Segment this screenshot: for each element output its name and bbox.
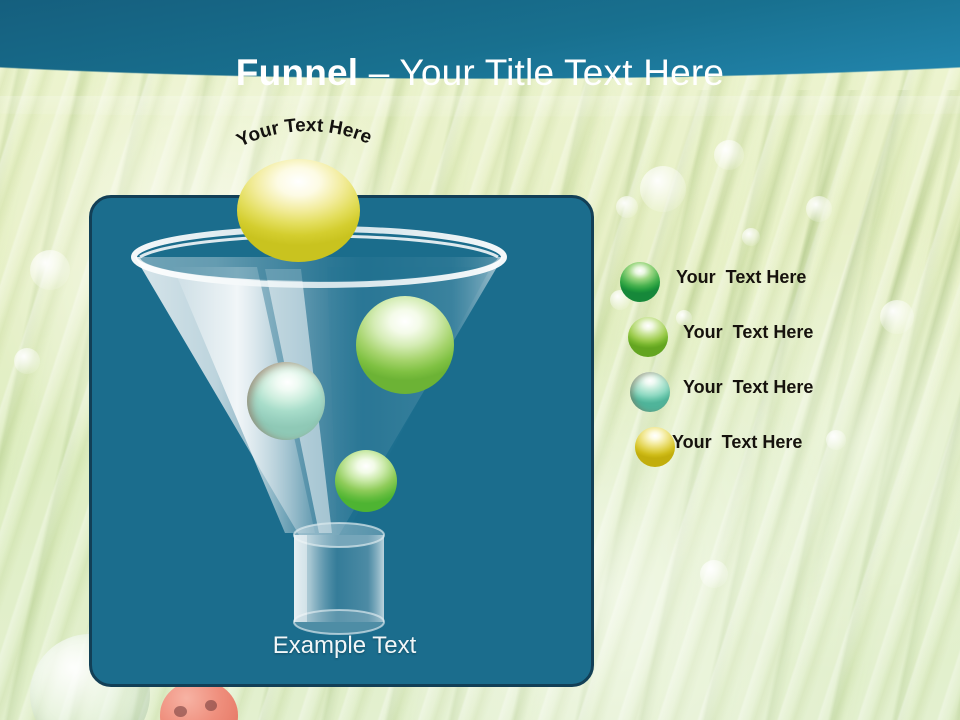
- bullet-sphere-icon: [628, 317, 668, 357]
- list-item[interactable]: Your Text Here: [620, 313, 920, 368]
- bullet-sphere-icon: [635, 427, 675, 467]
- yellow-sphere: [237, 159, 360, 262]
- list-item-label: Your Text Here: [672, 432, 802, 453]
- title-light-part: Your Title Text Here: [399, 52, 724, 93]
- list-item[interactable]: Your Text Here: [620, 258, 920, 313]
- title-dash: –: [358, 52, 399, 93]
- panel-caption: Example Text: [92, 632, 594, 660]
- list-item[interactable]: Your Text Here: [620, 423, 920, 478]
- green-large-sphere: [356, 296, 454, 394]
- list-item[interactable]: Your Text Here: [620, 368, 920, 423]
- slide-canvas: Funnel – Your Title Text Here Example Te…: [0, 0, 960, 720]
- list-item-label: Your Text Here: [676, 267, 806, 288]
- bullet-list: Your Text Here Your Text Here Your Text …: [620, 258, 920, 478]
- title-bold-part: Funnel: [236, 52, 358, 93]
- bullet-sphere-icon: [630, 372, 670, 412]
- content-panel: Example Text: [89, 195, 594, 687]
- bullet-sphere-icon: [620, 262, 660, 302]
- page-title: Funnel – Your Title Text Here: [0, 52, 960, 94]
- green-small-sphere: [335, 450, 397, 512]
- list-item-label: Your Text Here: [683, 322, 813, 343]
- list-item-label: Your Text Here: [683, 377, 813, 398]
- aqua-sphere: [247, 362, 325, 440]
